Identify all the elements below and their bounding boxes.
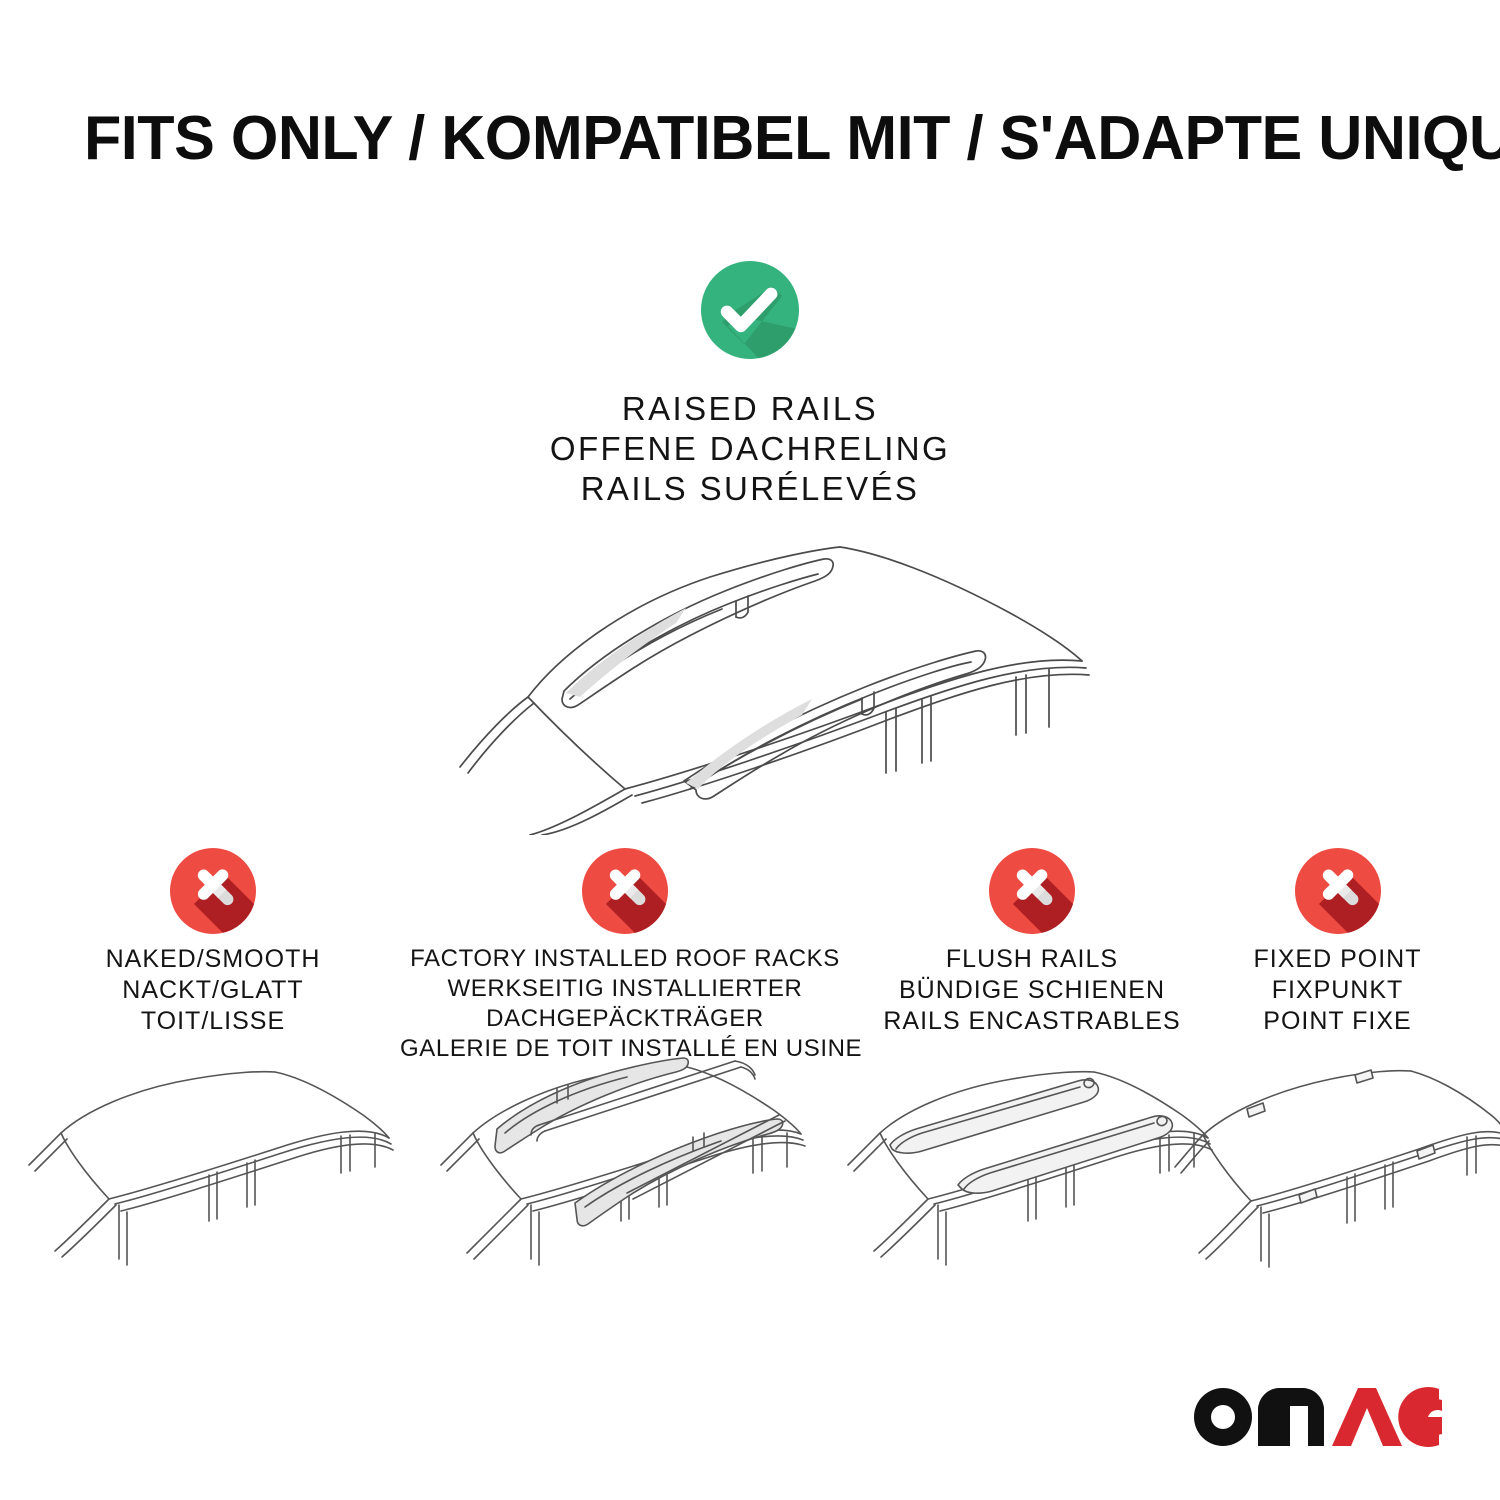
car-roof-with-factory-crossbars-illustration <box>435 1041 815 1281</box>
caption-line-de-1: WERKSEITIG INSTALLIERTER <box>400 973 850 1003</box>
red-x-circle-icon <box>986 845 1078 942</box>
compatible-line-en: RAISED RAILS <box>0 389 1500 429</box>
caption-line-de: NACKT/GLATT <box>33 974 393 1005</box>
compatible-line-fr: RAILS SURÉLEVÉS <box>0 469 1500 509</box>
incompatible-item-factory-roof-racks: FACTORY INSTALLED ROOF RACKS WERKSEITIG … <box>400 845 850 1063</box>
caption-line-de: BÜNDIGE SCHIENEN <box>852 974 1212 1005</box>
incompatible-item-flush-rails: FLUSH RAILS BÜNDIGE SCHIENEN RAILS ENCAS… <box>852 845 1212 1036</box>
caption-line-en: FLUSH RAILS <box>852 943 1212 974</box>
caption-line-fr: POINT FIXE <box>1215 1005 1460 1036</box>
incompatible-item-fixed-point: FIXED POINT FIXPUNKT POINT FIXE <box>1215 845 1460 1036</box>
omac-logo <box>1192 1386 1442 1448</box>
red-x-circle-icon <box>579 845 671 942</box>
caption-line-en: FACTORY INSTALLED ROOF RACKS <box>400 943 850 973</box>
page-title: FITS ONLY / KOMPATIBEL MIT / S'ADAPTE UN… <box>84 104 1412 174</box>
incompatible-section: NAKED/SMOOTH NACKT/GLATT TOIT/LISSE <box>0 845 1500 1325</box>
caption-line-fr: TOIT/LISSE <box>33 1005 393 1036</box>
compatible-section: RAISED RAILS OFFENE DACHRELING RAILS SUR… <box>0 258 1500 509</box>
incompatible-caption-flush-rails: FLUSH RAILS BÜNDIGE SCHIENEN RAILS ENCAS… <box>852 943 1212 1036</box>
red-x-circle-icon <box>167 845 259 942</box>
incompatible-caption-fixed-point: FIXED POINT FIXPUNKT POINT FIXE <box>1215 943 1460 1036</box>
compatible-caption: RAISED RAILS OFFENE DACHRELING RAILS SUR… <box>0 389 1500 509</box>
caption-line-de: FIXPUNKT <box>1215 974 1460 1005</box>
car-roof-with-raised-rails-illustration <box>410 505 1110 835</box>
incompatible-caption-naked-smooth: NAKED/SMOOTH NACKT/GLATT TOIT/LISSE <box>33 943 393 1036</box>
caption-line-de-2: DACHGEPÄCKTRÄGER <box>400 1003 850 1033</box>
red-x-circle-icon <box>1292 845 1384 942</box>
car-roof-with-flush-rails-illustration <box>842 1053 1222 1293</box>
car-roof-with-fixed-points-illustration <box>1173 1053 1500 1293</box>
compatible-line-de: OFFENE DACHRELING <box>0 429 1500 469</box>
green-check-circle-icon <box>698 258 802 367</box>
caption-line-en: FIXED POINT <box>1215 943 1460 974</box>
car-roof-bare-illustration <box>23 1053 403 1293</box>
caption-line-en: NAKED/SMOOTH <box>33 943 393 974</box>
incompatible-item-naked-smooth: NAKED/SMOOTH NACKT/GLATT TOIT/LISSE <box>33 845 393 1036</box>
caption-line-fr: RAILS ENCASTRABLES <box>852 1005 1212 1036</box>
infographic-page: FITS ONLY / KOMPATIBEL MIT / S'ADAPTE UN… <box>0 0 1500 1500</box>
